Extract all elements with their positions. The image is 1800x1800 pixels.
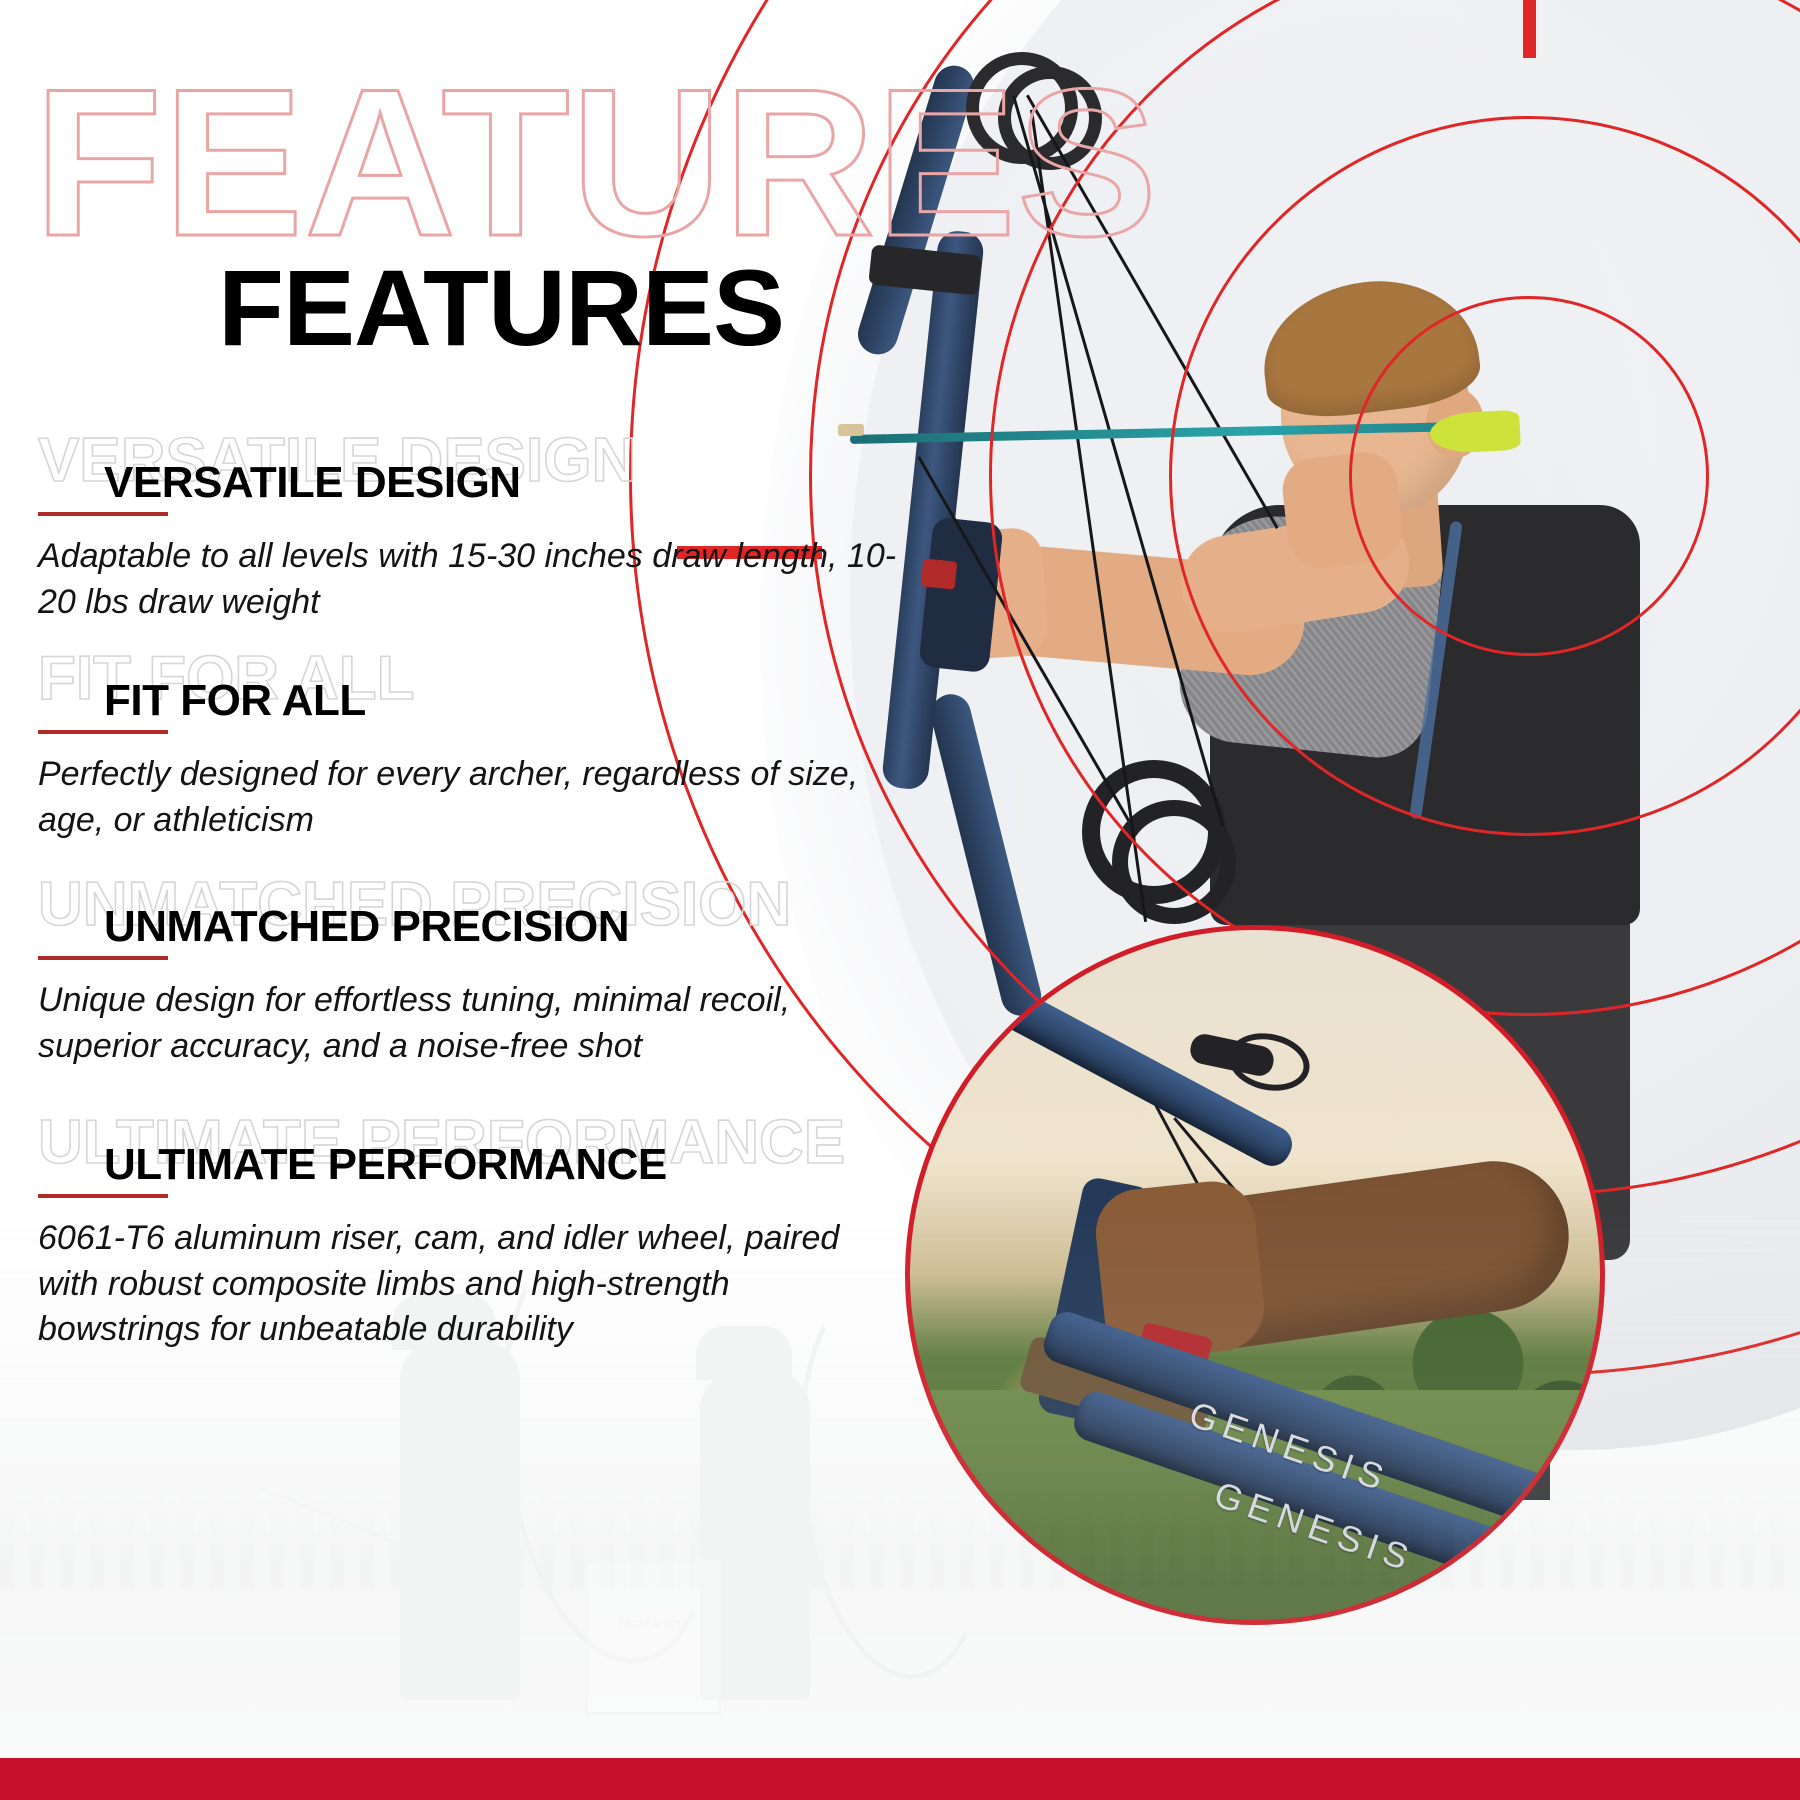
feature-item: FIT FOR ALL FIT FOR ALL Perfectly design… [0,648,920,846]
feature-page: GENESIS GENESIS ARCHERY ARCHERY Hurrican… [0,0,1800,1800]
hero-title-block: FEATURES FEATURES [0,0,1350,330]
feature-body: Unique design for effortless tuning, min… [38,978,898,1069]
feature-heading: FIT FOR ALL [0,648,920,724]
feature-body: Perfectly designed for every archer, reg… [38,752,898,843]
watermark-target-label: Hurricane [618,1613,689,1633]
feature-body: Adaptable to all levels with 15-30 inche… [38,534,898,625]
feature-list: VERSATILE DESIGN VERSATILE DESIGN Adapta… [0,430,920,1390]
watermark-target-stand: Hurricane [585,1559,721,1715]
feature-underline [38,956,168,960]
watermark-archer-2 [700,1370,810,1700]
hero-ghost-title: FEATURES [34,58,1158,268]
feature-item: ULTIMATE PERFORMANCE ULTIMATE PERFORMANC… [0,1112,920,1362]
feature-underline [38,1194,168,1198]
feature-body: 6061-T6 aluminum riser, cam, and idler w… [38,1216,898,1353]
crosshair-tick-top [1523,0,1536,58]
feature-underline [38,512,168,516]
inset-bow-idler-wheel [1223,1026,1315,1098]
watermark-archer-1 [400,1340,520,1700]
feature-item: UNMATCHED PRECISION UNMATCHED PRECISION … [0,874,920,1084]
feature-heading: VERSATILE DESIGN [0,430,920,506]
feature-item: VERSATILE DESIGN VERSATILE DESIGN Adapta… [0,430,920,620]
feature-heading: ULTIMATE PERFORMANCE [0,1112,920,1188]
feature-underline [38,730,168,734]
page-title: FEATURES [218,254,784,362]
bottom-accent-bar [0,1758,1800,1800]
feature-heading: UNMATCHED PRECISION [0,874,920,950]
inset-brand-sub-2: ARCHERY [1414,1619,1580,1625]
watermark-arrow [262,1487,439,1560]
inset-photo-bow-grip: GENESIS GENESIS ARCHERY ARCHERY [905,925,1605,1625]
